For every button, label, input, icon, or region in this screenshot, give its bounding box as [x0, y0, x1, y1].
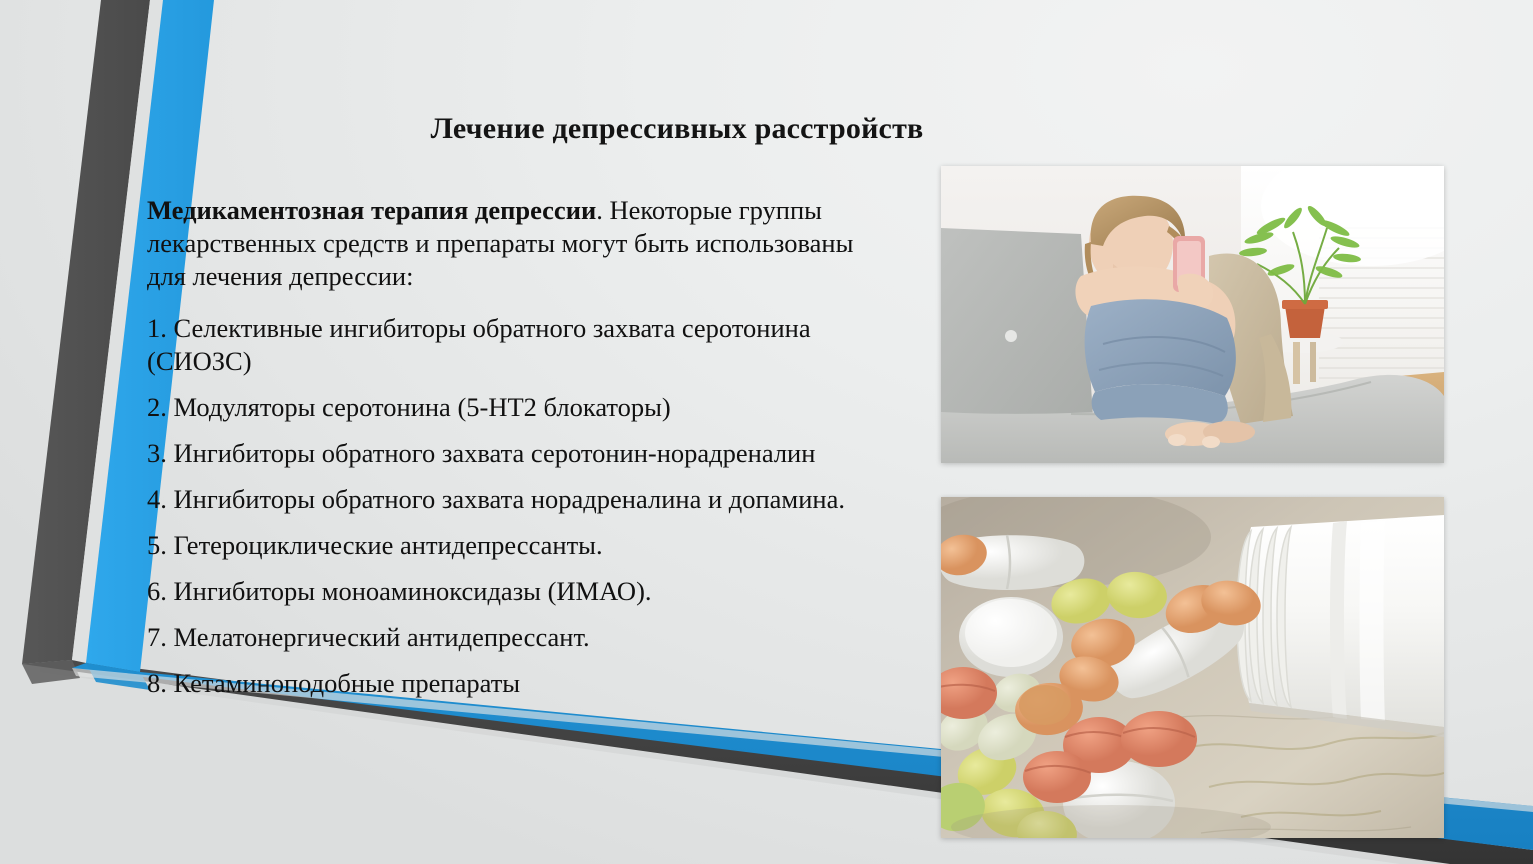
list-item-4: 4. Ингибиторы обратного захвата норадрен… — [147, 483, 867, 516]
list-item-8: 8. Кетаминоподобные препараты — [147, 667, 867, 700]
page-title: Лечение депрессивных расстройств — [147, 112, 1207, 146]
pink-tablet-3 — [1121, 711, 1197, 767]
photo-pills-spilled — [941, 497, 1444, 838]
blue-stripe-bend-facet — [86, 663, 150, 690]
list-item-2: 2. Модуляторы серотонина (5-HT2 блокатор… — [147, 391, 867, 424]
list-item-6: 6. Ингибиторы моноаминоксидазы (ИМАО). — [147, 575, 867, 608]
list-item-7: 7. Мелатонергический антидепрессант. — [147, 621, 867, 654]
content-text-column: Медикаментозная терапия депрессии. Некот… — [147, 194, 867, 713]
list-item-1: 1. Селективные ингибиторы обратного захв… — [147, 312, 867, 378]
tan-oval-1 — [1019, 685, 1071, 725]
lead-paragraph: Медикаментозная терапия депрессии. Некот… — [147, 194, 867, 293]
pill-bottle — [1237, 515, 1444, 737]
slide-canvas: Лечение депрессивных расстройств Медикам… — [0, 0, 1533, 864]
list-item-3: 3. Ингибиторы обратного захвата серотони… — [147, 437, 867, 470]
pink-tablet-4 — [1023, 751, 1091, 803]
gray-stripe-upper-arm — [22, 0, 150, 664]
list-item-5: 5. Гетероциклические антидепрессанты. — [147, 529, 867, 562]
lead-paragraph-bold: Медикаментозная терапия депрессии — [147, 195, 596, 225]
gray-stripe-bend-facet — [22, 660, 80, 684]
photo-woman-on-couch — [941, 166, 1444, 463]
